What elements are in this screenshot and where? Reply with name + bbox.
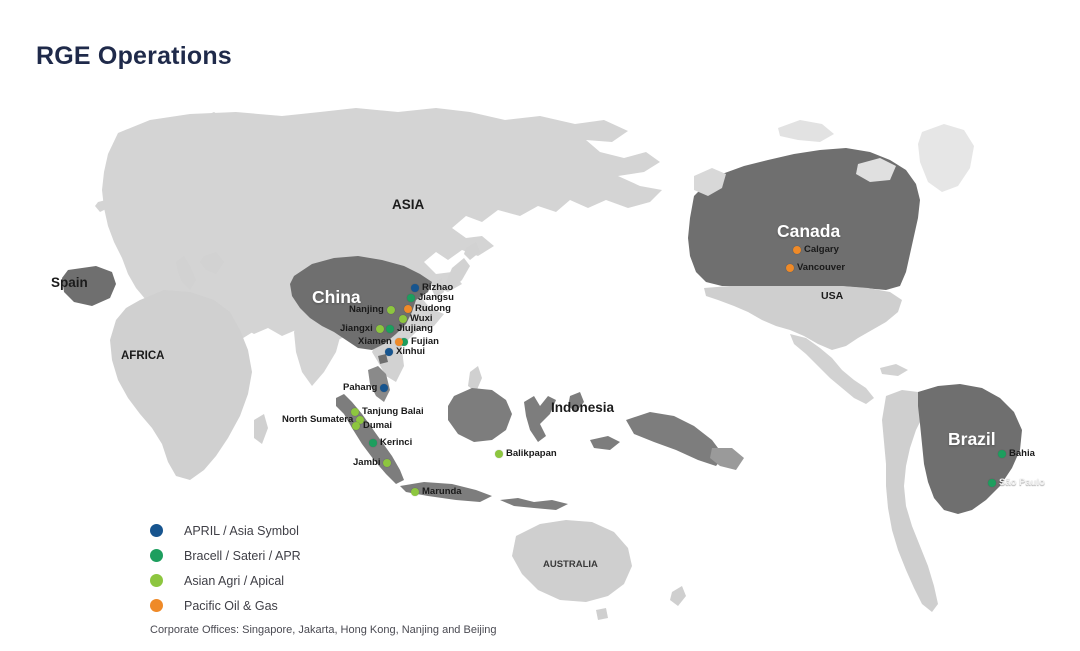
marker-label-jiujiang: Jiujiang (397, 323, 433, 334)
seram (590, 436, 620, 450)
papua-east (710, 448, 744, 470)
marker-label-kerinci: Kerinci (380, 437, 412, 448)
africa-landmass (110, 290, 252, 480)
caribbean-islands (880, 364, 908, 376)
bracell-dot-icon (386, 325, 394, 333)
april-dot-icon (385, 348, 393, 356)
bracell-dot-icon (988, 479, 996, 487)
marker-balikpapan[interactable]: Balikpapan (495, 448, 557, 459)
legend-item-april-asia-symbol[interactable]: APRIL / Asia Symbol (150, 518, 497, 543)
new-zealand (670, 586, 686, 606)
marker-calgary[interactable]: Calgary (793, 244, 839, 255)
bracell-dot-icon (407, 294, 415, 302)
marker-bahia[interactable]: Bahia (998, 448, 1035, 459)
marker-label-tanjung-balai: Tanjung Balai (362, 406, 424, 417)
oil-gas-dot-icon (395, 338, 403, 346)
sulawesi (524, 396, 556, 442)
marker-label-xinhui: Xinhui (396, 346, 425, 357)
legend-item-pacific-oil-gas[interactable]: Pacific Oil & Gas (150, 593, 497, 618)
legend-label-pacific-oil-gas: Pacific Oil & Gas (184, 599, 278, 613)
oil-gas-dot-icon (786, 264, 794, 272)
marker-label-bahia: Bahia (1009, 448, 1035, 459)
legend-label-april-asia-symbol: APRIL / Asia Symbol (184, 524, 299, 538)
oil-gas-dot-icon (404, 305, 412, 313)
asian-agri-dot-icon (352, 422, 360, 430)
marker-dumai[interactable]: Dumai (352, 420, 392, 431)
legend-label-asian-agri-apical: Asian Agri / Apical (184, 574, 284, 588)
marker-nanjing[interactable]: Nanjing (349, 304, 395, 315)
spain-highlight (62, 266, 116, 306)
marker-jiangsu[interactable]: Jiangsu (407, 292, 454, 303)
sumbawa-flores (500, 498, 568, 510)
marker-label-dumai: Dumai (363, 420, 392, 431)
legend-item-asian-agri-apical[interactable]: Asian Agri / Apical (150, 568, 497, 593)
asian-agri-dot-icon (376, 325, 384, 333)
marker-label-jiangxi: Jiangxi (340, 323, 373, 334)
legend-corporate-offices-note: Corporate Offices: Singapore, Jakarta, H… (150, 624, 497, 636)
april-dot-icon (380, 384, 388, 392)
philippines (468, 366, 482, 392)
legend: APRIL / Asia Symbol Bracell / Sateri / A… (150, 518, 497, 636)
arctic-islands (778, 120, 834, 142)
marker-label-sao-paulo: São Paulo (999, 477, 1045, 488)
oil-gas-dot-icon (793, 246, 801, 254)
marker-kerinci[interactable]: Kerinci (369, 437, 412, 448)
marker-xinhui[interactable]: Xinhui (385, 346, 425, 357)
marker-label-north-sumatera: North Sumatera (282, 414, 353, 425)
tasmania (596, 608, 608, 620)
asian-agri-dot-icon (411, 488, 419, 496)
oil-gas-dot-icon (150, 599, 163, 612)
bracell-dot-icon (150, 549, 163, 562)
marker-label-balikpapan: Balikpapan (506, 448, 557, 459)
marker-jambi[interactable]: Jambi (353, 457, 391, 468)
marker-label-vancouver: Vancouver (797, 262, 845, 273)
marker-label-pahang: Pahang (343, 382, 377, 393)
greenland (918, 124, 974, 192)
legend-label-bracell-sateri-apr: Bracell / Sateri / APR (184, 549, 301, 563)
marker-marunda[interactable]: Marunda (411, 486, 462, 497)
marker-label-jiangsu: Jiangsu (418, 292, 454, 303)
marker-label-marunda: Marunda (422, 486, 462, 497)
asian-agri-dot-icon (387, 306, 395, 314)
bracell-dot-icon (998, 450, 1006, 458)
bracell-dot-icon (369, 439, 377, 447)
rge-operations-map-slide: RGE Operations (0, 0, 1080, 651)
borneo (448, 388, 512, 442)
asian-agri-dot-icon (399, 315, 407, 323)
april-dot-icon (411, 284, 419, 292)
marker-pahang[interactable]: Pahang (343, 382, 388, 393)
marker-jiangxi[interactable]: Jiangxi (340, 323, 384, 334)
marker-sao-paulo[interactable]: São Paulo (988, 477, 1045, 488)
australia-landmass (512, 520, 632, 602)
madagascar (254, 414, 268, 444)
asian-agri-dot-icon (495, 450, 503, 458)
asian-agri-dot-icon (150, 574, 163, 587)
marker-label-jambi: Jambi (353, 457, 380, 468)
april-dot-icon (150, 524, 163, 537)
halmahera (568, 392, 584, 412)
marker-label-calgary: Calgary (804, 244, 839, 255)
marker-vancouver[interactable]: Vancouver (786, 262, 845, 273)
asian-agri-dot-icon (383, 459, 391, 467)
marker-jiujiang[interactable]: Jiujiang (386, 323, 433, 334)
legend-item-bracell-sateri-apr[interactable]: Bracell / Sateri / APR (150, 543, 497, 568)
marker-label-nanjing: Nanjing (349, 304, 384, 315)
papua (626, 412, 724, 466)
